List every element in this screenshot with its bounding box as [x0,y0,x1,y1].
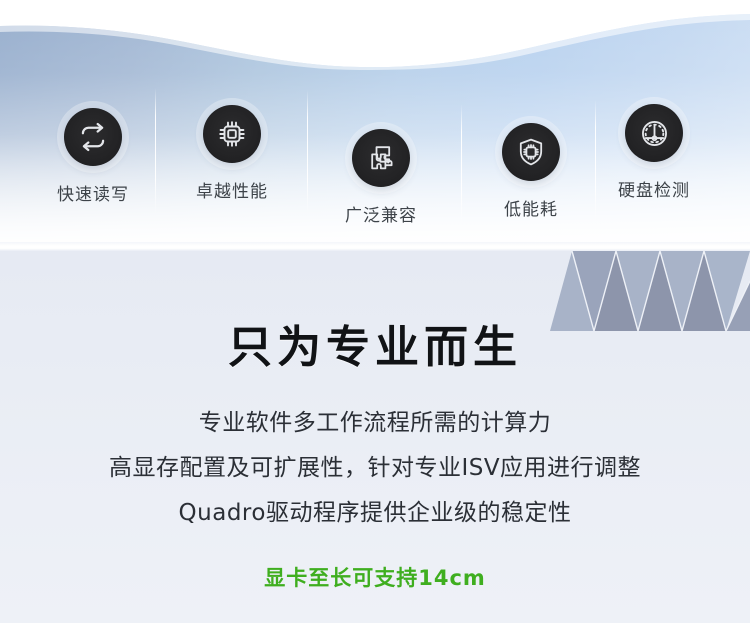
description-block: 专业软件多工作流程所需的计算力 高显存配置及可扩展性，针对专业ISV应用进行调整… [0,401,750,536]
feature-superb-performance[interactable]: 卓越性能 [146,105,318,202]
refresh-sync-icon [64,108,122,166]
description-line: Quadro驱动程序提供企业级的稳定性 [0,491,750,536]
top-wave-decoration [0,0,750,70]
shield-chip-icon [502,123,560,181]
band-separator [0,242,750,251]
feature-label: 卓越性能 [146,177,318,202]
promo-page: 快速读写 卓越性能 [0,0,750,623]
lower-section: 只为专业而生 专业软件多工作流程所需的计算力 高显存配置及可扩展性，针对专业IS… [0,251,750,623]
feature-disk-detection[interactable]: 硬盘检测 [568,104,740,201]
feature-label: 广泛兼容 [295,201,467,226]
page-title: 只为专业而生 [0,311,750,375]
description-line: 专业软件多工作流程所需的计算力 [0,401,750,446]
green-highlight-note: 显卡至长可支持14cm [0,562,750,592]
feature-band: 快速读写 卓越性能 [0,0,750,244]
description-line: 高显存配置及可扩展性，针对专业ISV应用进行调整 [0,446,750,491]
gauge-icon [625,104,683,162]
cpu-chip-icon [203,105,261,163]
feature-label: 硬盘检测 [568,176,740,201]
feature-broad-compatibility[interactable]: 广泛兼容 [295,129,467,226]
puzzle-pieces-icon [352,129,410,187]
